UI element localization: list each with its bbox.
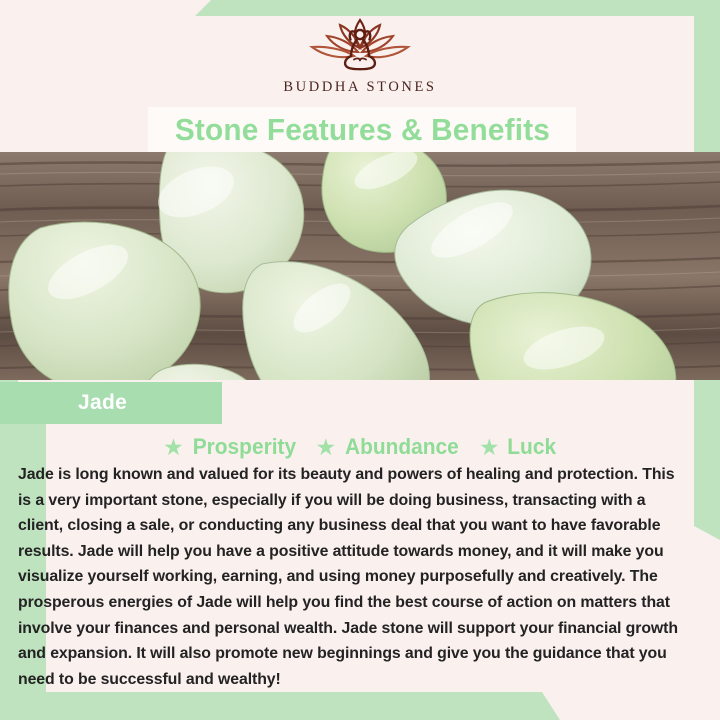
benefit-item-luck: ★ Luck xyxy=(479,434,557,460)
description-block: Jade is long known and valued for its be… xyxy=(18,462,700,692)
benefit-label: Prosperity xyxy=(192,434,295,460)
benefit-item-prosperity: ★ Prosperity xyxy=(163,434,298,460)
page-title: Stone Features & Benefits xyxy=(174,112,549,148)
brand-name: BUDDHA STONES xyxy=(283,79,436,96)
benefit-label: Luck xyxy=(507,434,556,460)
description-paragraph: Jade is long known and valued for its be… xyxy=(18,462,690,692)
brand-logo: BUDDHA STONES xyxy=(0,14,720,96)
lotus-meditation-icon xyxy=(298,14,422,76)
jade-stones-illustration xyxy=(0,152,720,380)
star-icon: ★ xyxy=(316,436,337,459)
benefit-label: Abundance xyxy=(345,434,459,460)
stone-name-label: Jade xyxy=(78,391,127,415)
star-icon: ★ xyxy=(479,436,500,459)
benefits-row: ★ Prosperity ★ Abundance ★ Luck xyxy=(18,432,702,462)
stone-features-poster: BUDDHA STONES Stone Features & Benefits xyxy=(0,0,720,720)
star-icon: ★ xyxy=(163,436,184,459)
stone-name-band: Jade xyxy=(0,382,222,424)
stone-photo xyxy=(0,152,720,380)
title-banner: Stone Features & Benefits xyxy=(148,107,576,152)
benefit-item-abundance: ★ Abundance xyxy=(316,434,462,460)
decor-bottom-band xyxy=(0,692,560,720)
